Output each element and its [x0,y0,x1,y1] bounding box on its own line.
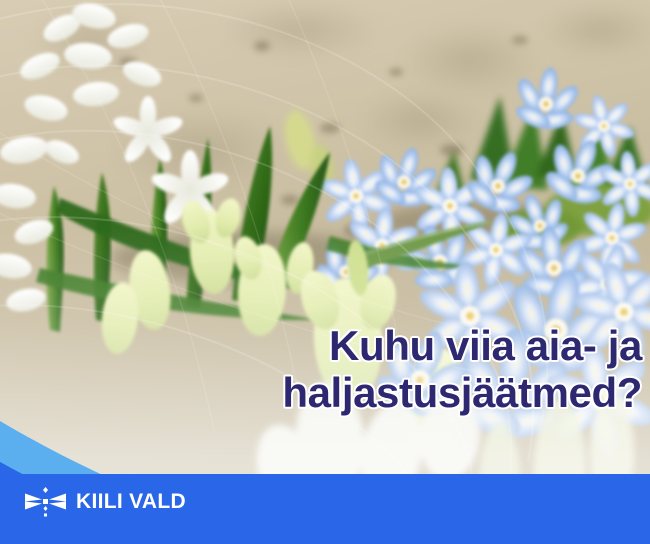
kiili-vald-banner: Kuhu viia aia- ja haljastusjäätmed? [0,0,650,544]
kiili-vald-logo[interactable]: KIILI VALD [24,486,186,517]
logo-wordmark: KIILI VALD [76,491,186,512]
dragonfly-icon [24,486,67,517]
